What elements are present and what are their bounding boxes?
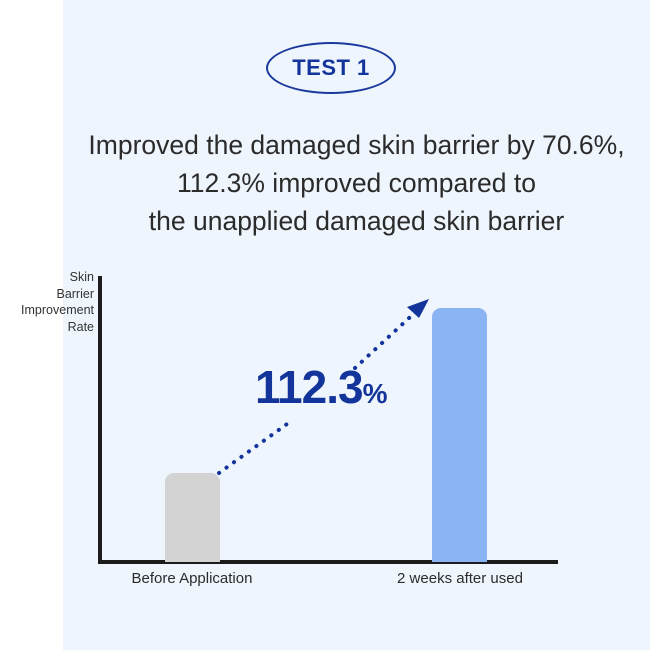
bar-before-application [165,473,220,562]
y-axis-label-line-3: Improvement [0,302,94,319]
bar-2-weeks-after-used [432,308,487,562]
improvement-value-unit: % [363,378,387,409]
y-axis-line [98,276,102,564]
improvement-value-number: 112.3 [255,361,363,413]
y-axis-label-line-4: Rate [0,319,94,336]
infographic-root: TEST 1 Improved the damaged skin barrier… [0,0,650,650]
y-axis-label: Skin Barrier Improvement Rate [0,269,94,335]
improvement-value: 112.3% [255,364,387,410]
y-axis-label-line-2: Barrier [0,286,94,303]
x-axis-tick-label-before-application: Before Application [92,570,292,587]
y-axis-label-line-1: Skin [0,269,94,286]
x-axis-tick-label-2-weeks-after-used: 2 weeks after used [360,570,560,587]
bar-chart: Skin Barrier Improvement Rate Before App… [0,0,650,650]
